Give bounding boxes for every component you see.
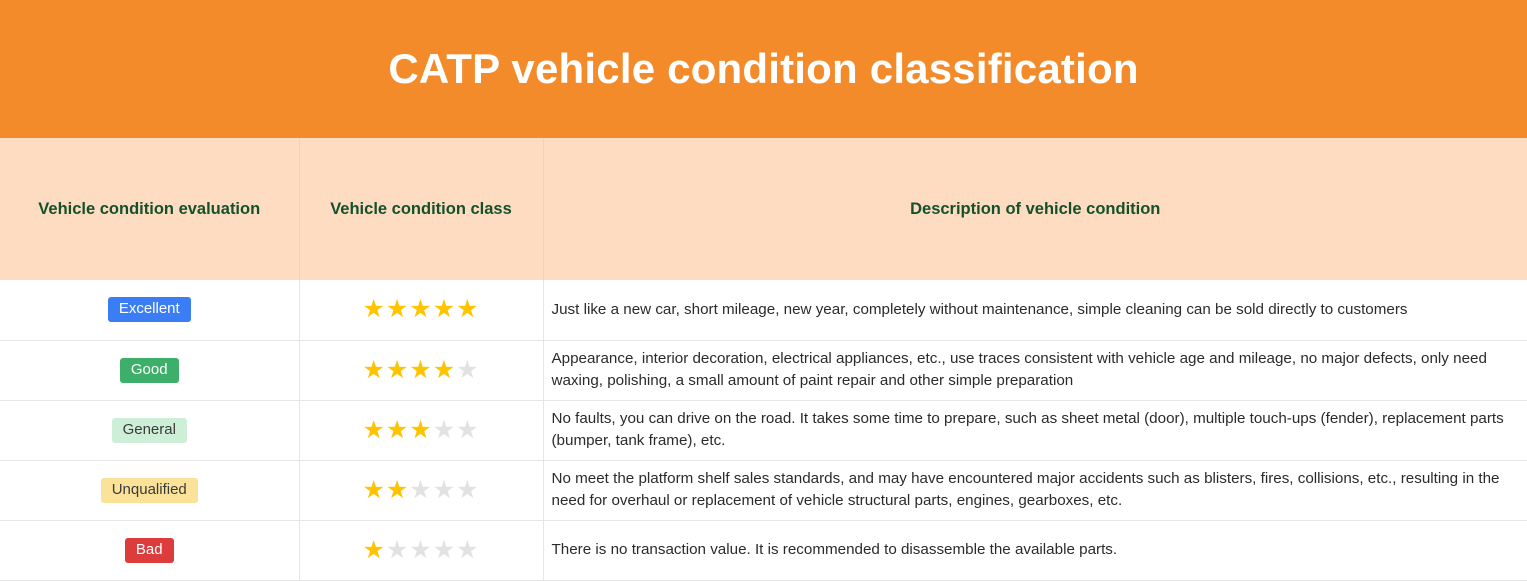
cell-description: There is no transaction value. It is rec… [543,520,1527,580]
star-filled-icon: ★ [386,478,409,503]
star-empty-icon: ★ [433,418,456,443]
cell-description: No faults, you can drive on the road. It… [543,400,1527,460]
star-filled-icon: ★ [386,418,409,443]
column-header-description: Description of vehicle condition [543,138,1527,280]
table-body: Excellent★★★★★Just like a new car, short… [0,280,1527,580]
table-header: Vehicle condition evaluation Vehicle con… [0,138,1527,280]
star-empty-icon: ★ [409,538,432,563]
star-empty-icon: ★ [386,538,409,563]
table-row: Unqualified★★★★★No meet the platform she… [0,460,1527,520]
star-rating: ★★★★★ [362,418,479,443]
star-empty-icon: ★ [456,358,479,383]
page-root: CATP vehicle condition classification Ve… [0,0,1527,579]
cell-class: ★★★★★ [299,280,543,340]
cell-evaluation: Unqualified [0,460,299,520]
star-empty-icon: ★ [456,538,479,563]
cell-class: ★★★★★ [299,460,543,520]
page-title: CATP vehicle condition classification [388,46,1138,92]
cell-description: Just like a new car, short mileage, new … [543,280,1527,340]
star-empty-icon: ★ [433,478,456,503]
star-filled-icon: ★ [386,358,409,383]
title-banner: CATP vehicle condition classification [0,0,1527,138]
star-filled-icon: ★ [362,478,385,503]
cell-description: No meet the platform shelf sales standar… [543,460,1527,520]
table-row: Excellent★★★★★Just like a new car, short… [0,280,1527,340]
star-filled-icon: ★ [362,358,385,383]
star-rating: ★★★★★ [362,297,479,322]
cell-evaluation: Good [0,340,299,400]
status-badge[interactable]: General [112,418,187,443]
status-badge[interactable]: Excellent [108,297,191,322]
star-filled-icon: ★ [433,358,456,383]
column-header-class: Vehicle condition class [299,138,543,280]
star-filled-icon: ★ [409,297,432,322]
star-filled-icon: ★ [362,538,385,563]
status-badge[interactable]: Bad [125,538,174,563]
table-row: General★★★★★No faults, you can drive on … [0,400,1527,460]
star-rating: ★★★★★ [362,478,479,503]
star-filled-icon: ★ [386,297,409,322]
table-row: Good★★★★★Appearance, interior decoration… [0,340,1527,400]
star-rating: ★★★★★ [362,538,479,563]
status-badge[interactable]: Unqualified [101,478,198,503]
cell-evaluation: Excellent [0,280,299,340]
cell-class: ★★★★★ [299,340,543,400]
cell-description: Appearance, interior decoration, electri… [543,340,1527,400]
star-filled-icon: ★ [409,418,432,443]
star-rating: ★★★★★ [362,358,479,383]
table-row: Bad★★★★★There is no transaction value. I… [0,520,1527,580]
star-filled-icon: ★ [433,297,456,322]
star-filled-icon: ★ [362,297,385,322]
column-header-evaluation: Vehicle condition evaluation [0,138,299,280]
star-empty-icon: ★ [409,478,432,503]
cell-evaluation: General [0,400,299,460]
star-filled-icon: ★ [456,297,479,322]
star-empty-icon: ★ [456,478,479,503]
table-header-row: Vehicle condition evaluation Vehicle con… [0,138,1527,280]
vehicle-condition-table: Vehicle condition evaluation Vehicle con… [0,138,1527,581]
cell-class: ★★★★★ [299,400,543,460]
cell-class: ★★★★★ [299,520,543,580]
star-filled-icon: ★ [362,418,385,443]
star-empty-icon: ★ [433,538,456,563]
status-badge[interactable]: Good [120,358,179,383]
star-filled-icon: ★ [409,358,432,383]
cell-evaluation: Bad [0,520,299,580]
star-empty-icon: ★ [456,418,479,443]
